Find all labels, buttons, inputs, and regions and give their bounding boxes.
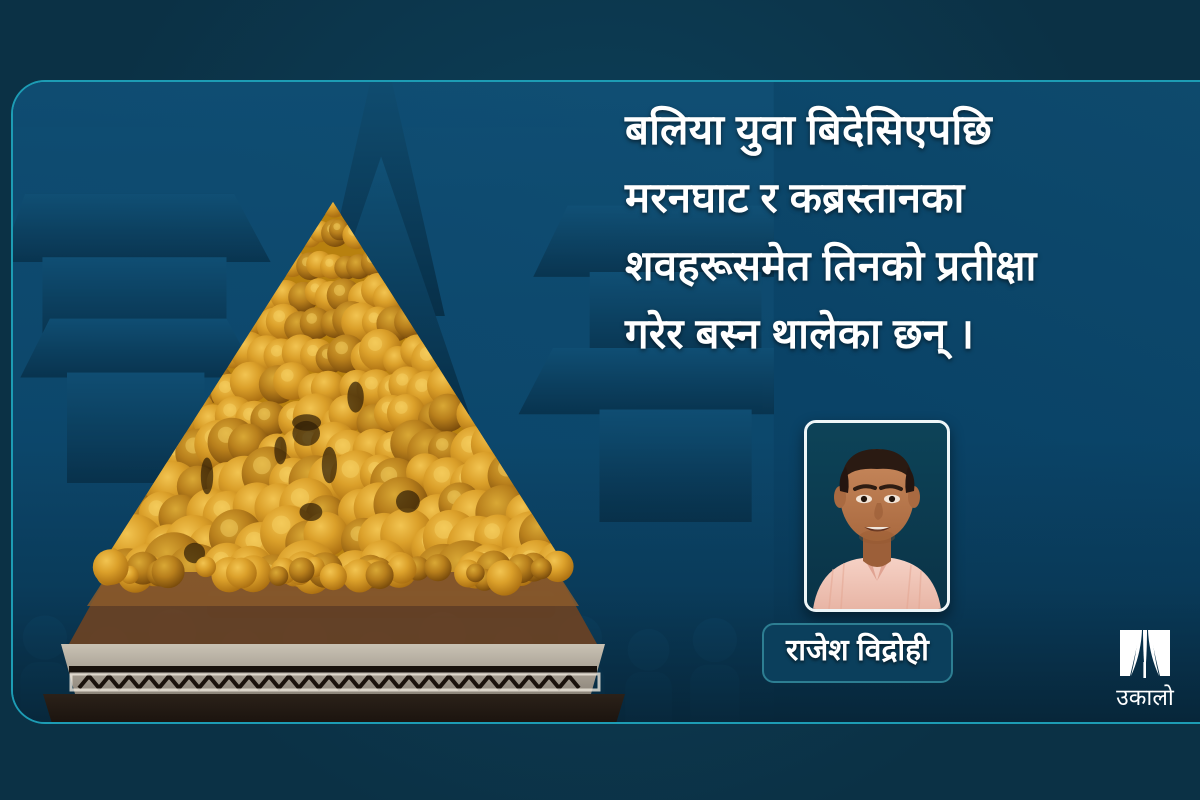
headline-line-2: मरनघाट र कब्रस्तानका	[625, 164, 1145, 232]
headline-line-1: बलिया युवा बिदेसिएपछि	[625, 96, 1145, 164]
marigold-bier-image	[13, 174, 653, 724]
headline: बलिया युवा बिदेसिएपछि मरनघाट र कब्रस्तान…	[625, 96, 1145, 368]
author-portrait	[804, 420, 950, 612]
headline-line-4: गरेर बस्न थालेका छन् ।	[625, 300, 1145, 368]
brand-logo[interactable]: उकालो	[1104, 622, 1186, 722]
poster-canvas: बलिया युवा बिदेसिएपछि मरनघाट र कब्रस्तान…	[0, 0, 1200, 800]
uphill-road-icon	[1114, 622, 1176, 684]
author-name-badge: राजेश विद्रोही	[762, 623, 953, 683]
brand-wordmark: उकालो	[1116, 686, 1174, 709]
headline-line-3: शवहरूसमेत तिनको प्रतीक्षा	[625, 232, 1145, 300]
